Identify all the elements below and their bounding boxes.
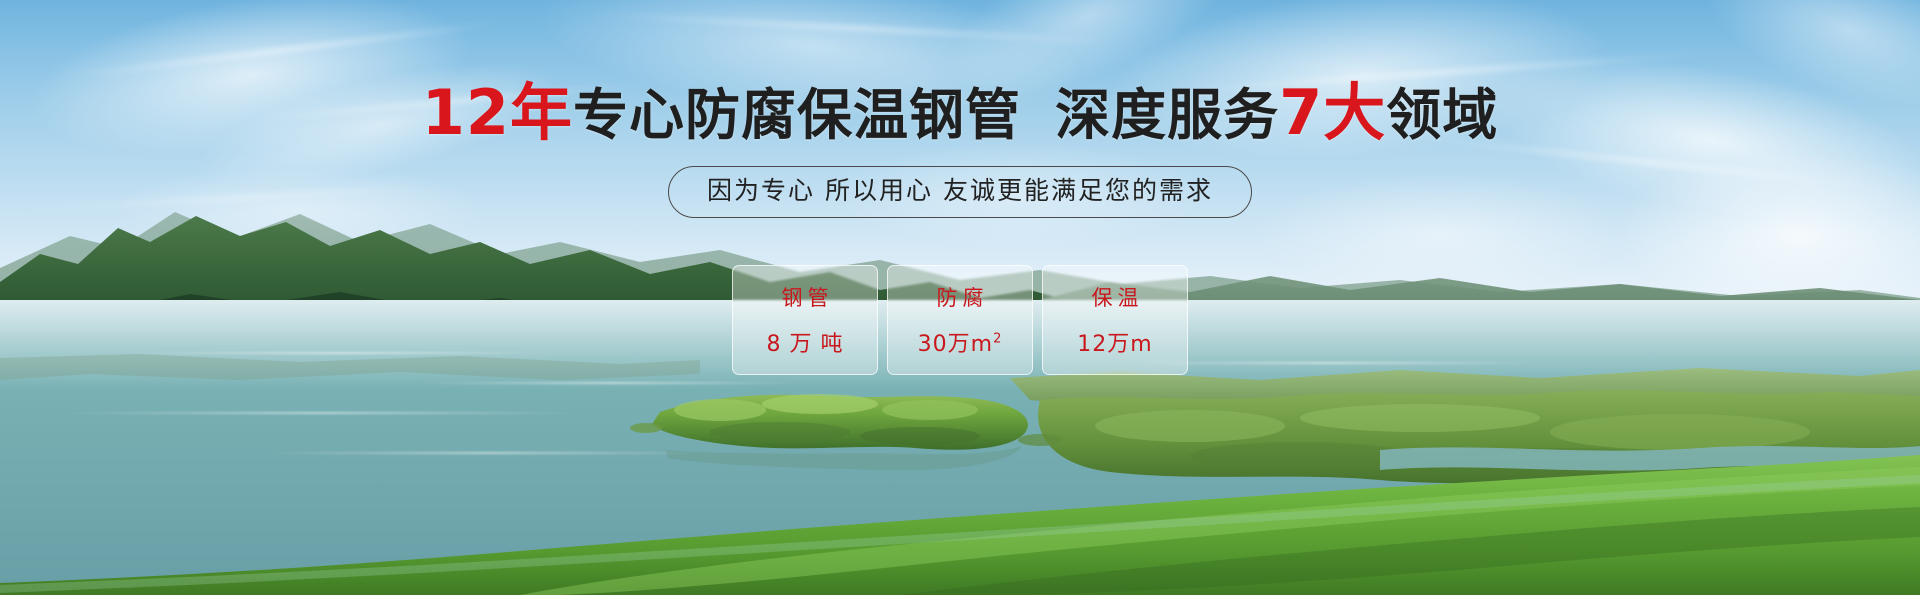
stat-card-anticorrosion[interactable]: 防腐 30万m2	[887, 265, 1033, 375]
subtitle-container: 因为专心 所以用心 友诚更能满足您的需求	[0, 166, 1920, 218]
headline-dark-2: 深度服务	[1055, 83, 1279, 147]
page-title: 12年专心防腐保温钢管深度服务7大领域	[0, 82, 1920, 144]
headline-dark-3: 领域	[1386, 83, 1498, 147]
headline-years: 12年	[422, 76, 573, 149]
stat-card-steel-pipe[interactable]: 钢管 8 万 吨	[732, 265, 878, 375]
foreground-grass	[0, 445, 1920, 595]
stat-card-value-text: 12万m	[1077, 332, 1152, 357]
stat-card-value: 12万m	[1077, 326, 1152, 358]
hero-banner: 12年专心防腐保温钢管深度服务7大领域 因为专心 所以用心 友诚更能满足您的需求…	[0, 0, 1920, 595]
headline-fields-count: 7大	[1279, 76, 1386, 149]
stat-card-insulation[interactable]: 保温 12万m	[1042, 265, 1188, 375]
stat-card-title: 钢管	[777, 282, 834, 312]
stat-card-value: 8 万 吨	[767, 326, 844, 358]
stat-card-value-superscript: 2	[993, 332, 1002, 347]
cloud-streak	[600, 12, 1120, 44]
stat-card-value-text: 30万m	[918, 332, 993, 357]
subtitle-pill: 因为专心 所以用心 友诚更能满足您的需求	[668, 166, 1252, 218]
headline-dark-1: 专心防腐保温钢管	[573, 83, 1021, 147]
stat-card-title: 保温	[1087, 282, 1144, 312]
stat-card-value: 30万m2	[918, 326, 1003, 358]
stat-card-value-text: 8 万 吨	[767, 332, 844, 357]
stat-card-title: 防腐	[932, 282, 989, 312]
stat-card-group: 钢管 8 万 吨 防腐 30万m2 保温 12万m	[0, 265, 1920, 375]
cloud-streak	[61, 21, 498, 80]
